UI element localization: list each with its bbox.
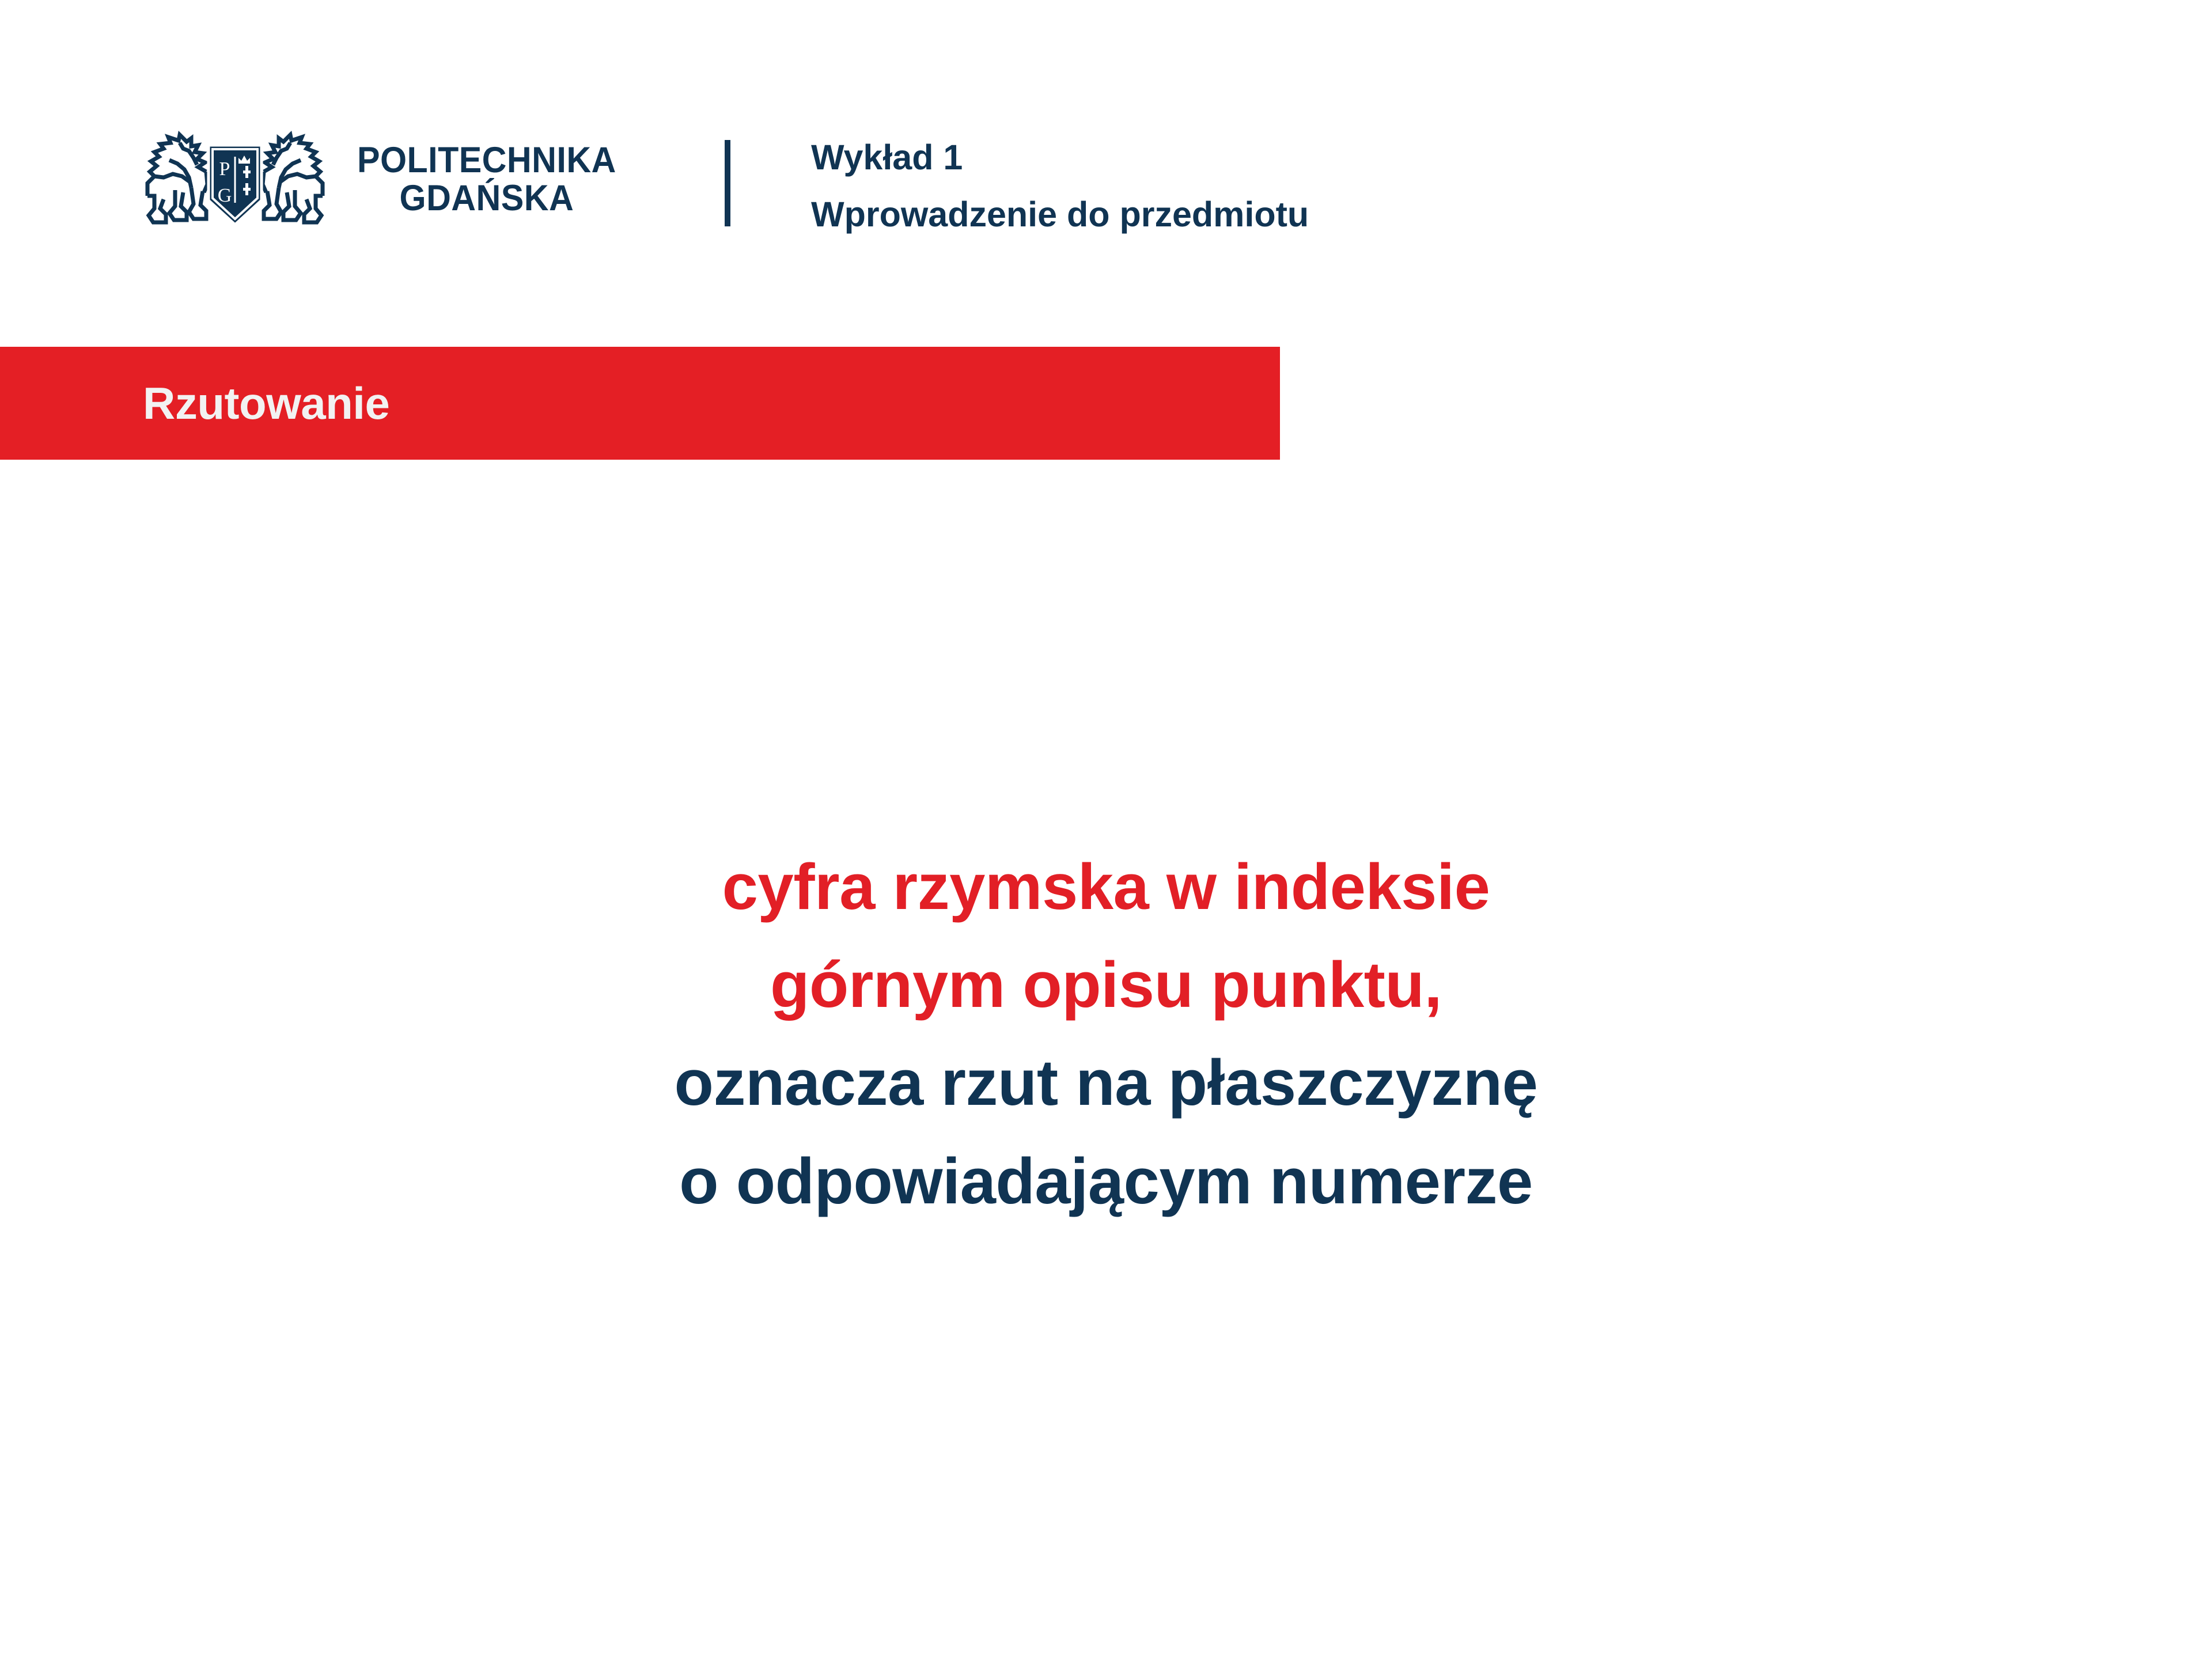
slide-body: cyfra rzymska w indeksie górnym opisu pu… bbox=[0, 838, 2212, 1230]
slide-header: P G POLITECHNIKA GDAŃSKA Wykład 1 Wprowa… bbox=[0, 0, 2212, 271]
presentation-slide: P G POLITECHNIKA GDAŃSKA Wykład 1 Wprowa… bbox=[0, 0, 2212, 1659]
university-brand-lockup: P G POLITECHNIKA GDAŃSKA bbox=[134, 128, 633, 232]
pg-coat-of-arms-icon: P G bbox=[134, 128, 336, 232]
svg-text:P: P bbox=[219, 158, 230, 180]
university-wordmark: POLITECHNIKA GDAŃSKA bbox=[357, 142, 616, 217]
lecture-number: Wykład 1 bbox=[811, 129, 1309, 186]
svg-text:G: G bbox=[218, 185, 232, 206]
wordmark-line-1: POLITECHNIKA bbox=[357, 142, 616, 180]
wordmark-line-2: GDAŃSKA bbox=[357, 180, 616, 218]
header-vertical-divider bbox=[725, 140, 730, 226]
section-title: Rzutowanie bbox=[143, 381, 389, 426]
statement-line-4: o odpowiadającym numerze bbox=[0, 1132, 2212, 1230]
statement-line-1: cyfra rzymska w indeksie bbox=[0, 838, 2212, 936]
statement-line-3: oznacza rzut na płaszczyznę bbox=[0, 1034, 2212, 1132]
lecture-title: Wykład 1 Wprowadzenie do przedmiotu bbox=[811, 129, 1309, 243]
lecture-subtitle: Wprowadzenie do przedmiotu bbox=[811, 186, 1309, 243]
section-banner: Rzutowanie bbox=[0, 347, 1280, 460]
statement-line-2: górnym opisu punktu, bbox=[0, 936, 2212, 1034]
